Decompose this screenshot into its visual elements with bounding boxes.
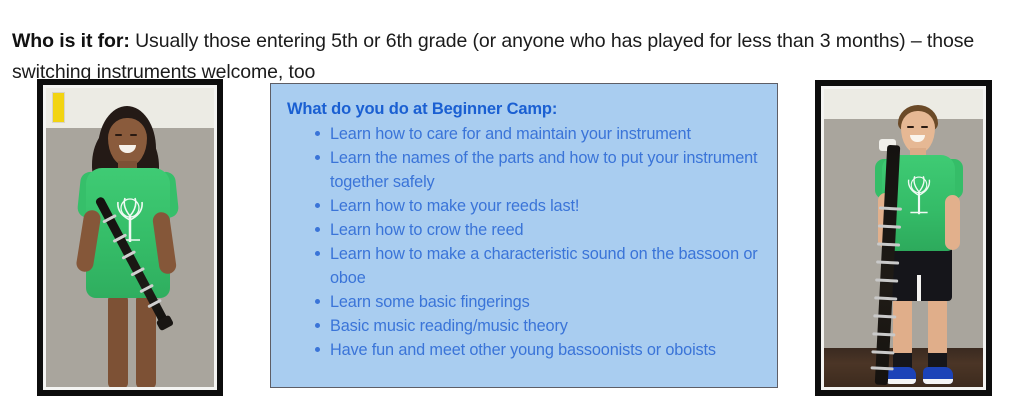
- tshirt-tree-logo-icon: [900, 171, 938, 216]
- beginner-camp-info-box: What do you do at Beginner Camp: Learn h…: [270, 83, 778, 388]
- list-item-label: Learn how to crow the reed: [330, 221, 523, 239]
- shoe: [923, 367, 953, 384]
- photo-bassoon-student: [815, 80, 992, 396]
- intro-label: Who is it for:: [12, 30, 130, 52]
- list-item-label: Learn some basic fingerings: [330, 293, 530, 311]
- list-item: Have fun and meet other young bassoonist…: [315, 338, 765, 362]
- bullet-icon: [315, 131, 320, 136]
- wall-sign: [52, 92, 65, 123]
- photo-bassoon-student-image: [824, 89, 983, 387]
- list-item: Learn the names of the parts and how to …: [315, 146, 765, 194]
- eye: [130, 134, 137, 136]
- leg: [893, 297, 912, 357]
- bullet-icon: [315, 203, 320, 208]
- photo-oboe-student: [37, 79, 223, 396]
- eye: [921, 126, 928, 128]
- shorts: [886, 245, 952, 301]
- list-item-label: Basic music reading/music theory: [330, 317, 568, 335]
- arm: [945, 195, 960, 250]
- list-item-label: Learn the names of the parts and how to …: [330, 149, 757, 191]
- list-item: Basic music reading/music theory: [315, 314, 765, 338]
- bullet-icon: [315, 323, 320, 328]
- intro-body: Usually those entering 5th or 6th grade …: [12, 30, 974, 83]
- bullet-icon: [315, 155, 320, 160]
- bullet-icon: [315, 227, 320, 232]
- bullet-icon: [315, 299, 320, 304]
- eye: [907, 126, 914, 128]
- list-item-label: Learn how to care for and maintain your …: [330, 125, 691, 143]
- list-item-label: Learn how to make your reeds last!: [330, 197, 579, 215]
- info-box-bullet-list: Learn how to care for and maintain your …: [287, 122, 765, 362]
- leg: [108, 294, 128, 387]
- eye: [115, 134, 122, 136]
- list-item: Learn some basic fingerings: [315, 290, 765, 314]
- list-item: Learn how to crow the reed: [315, 218, 765, 242]
- bullet-icon: [315, 347, 320, 352]
- list-item: Learn how to make a characteristic sound…: [315, 242, 765, 290]
- list-item: Learn how to make your reeds last!: [315, 194, 765, 218]
- list-item: Learn how to care for and maintain your …: [315, 122, 765, 146]
- list-item-label: Have fun and meet other young bassoonist…: [330, 341, 716, 359]
- bullet-icon: [315, 251, 320, 256]
- info-box-heading: What do you do at Beginner Camp:: [287, 98, 765, 120]
- leg: [928, 297, 947, 357]
- list-item-label: Learn how to make a characteristic sound…: [330, 245, 758, 287]
- photo-oboe-student-image: [46, 88, 214, 387]
